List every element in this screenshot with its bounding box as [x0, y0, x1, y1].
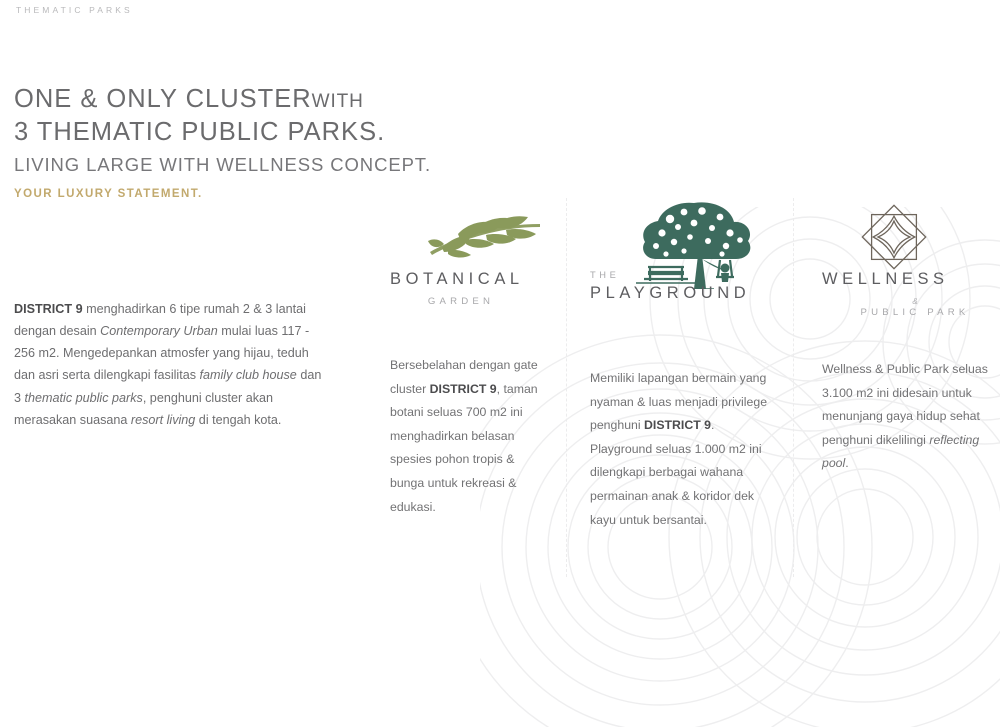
headline-block: ONE & ONLY CLUSTERWITH 3 THEMATIC PUBLIC… [14, 84, 431, 200]
column-divider-1 [566, 198, 567, 577]
park-body-text-2: . Playground seluas 1.000 m2 ini dilengk… [590, 418, 762, 526]
park-body-wellness: Wellness & Public Park seluas 3.100 m2 i… [822, 358, 994, 476]
mandala-star-icon [822, 198, 994, 270]
intro-text-5: di tengah kota. [195, 413, 281, 427]
headline-line-3: LIVING LARGE WITH WELLNESS CONCEPT. [14, 151, 431, 178]
park-title-playground: THE PLAYGROUND [590, 270, 778, 303]
brand-name: DISTRICT 9 [430, 382, 497, 396]
park-card-wellness: WELLNESS & PUBLIC PARK Wellness & Public… [822, 198, 994, 488]
park-card-botanical: BOTANICAL GARDEN Bersebelahan dengan gat… [390, 198, 550, 531]
headline-line-1-small: WITH [312, 91, 364, 112]
intro-italic-1: Contemporary Urban [100, 324, 218, 338]
park-title-sub: & PUBLIC PARK [822, 296, 994, 318]
park-body-playground: Memiliki lapangan bermain yang nyaman & … [590, 367, 778, 532]
park-body-text-2: , taman botani seluas 700 m2 ini menghad… [390, 382, 538, 514]
park-title-main: BOTANICAL [390, 270, 550, 289]
park-body-botanical: Bersebelahan dengan gate cluster DISTRIC… [390, 354, 550, 519]
park-card-playground: THE PLAYGROUND Memiliki lapangan bermain… [590, 198, 778, 544]
headline-line-2: 3 THEMATIC PUBLIC PARKS. [14, 117, 431, 148]
intro-paragraph: DISTRICT 9 menghadirkan 6 tipe rumah 2 &… [14, 298, 326, 432]
brand-name: DISTRICT 9 [644, 418, 711, 432]
park-title-pre: THE [590, 270, 778, 280]
intro-italic-4: resort living [131, 413, 195, 427]
tree-bench-swing-icon [590, 198, 778, 270]
headline-line-1: ONE & ONLY CLUSTERWITH [14, 84, 431, 117]
park-title-botanical: BOTANICAL GARDEN [390, 270, 550, 307]
park-title-sub-text: PUBLIC PARK [861, 307, 970, 318]
ampersand-glyph: & [912, 297, 917, 306]
headline-line-1-main: ONE & ONLY CLUSTER [14, 85, 312, 113]
olive-branch-icon [390, 198, 550, 270]
headline-tagline: YOUR LUXURY STATEMENT. [14, 188, 431, 200]
park-title-sub: GARDEN [390, 296, 550, 307]
park-body-text-2: . [845, 456, 848, 470]
column-divider-2 [793, 198, 794, 577]
park-title-wellness: WELLNESS & PUBLIC PARK [822, 270, 994, 318]
intro-italic-3: thematic public parks [25, 391, 143, 405]
park-title-main: PLAYGROUND [590, 284, 778, 303]
park-title-main: WELLNESS [822, 270, 994, 289]
eyebrow-label: THEMATIC PARKS [16, 5, 133, 15]
intro-italic-2: family club house [200, 368, 297, 382]
brand-name: DISTRICT 9 [14, 302, 83, 316]
